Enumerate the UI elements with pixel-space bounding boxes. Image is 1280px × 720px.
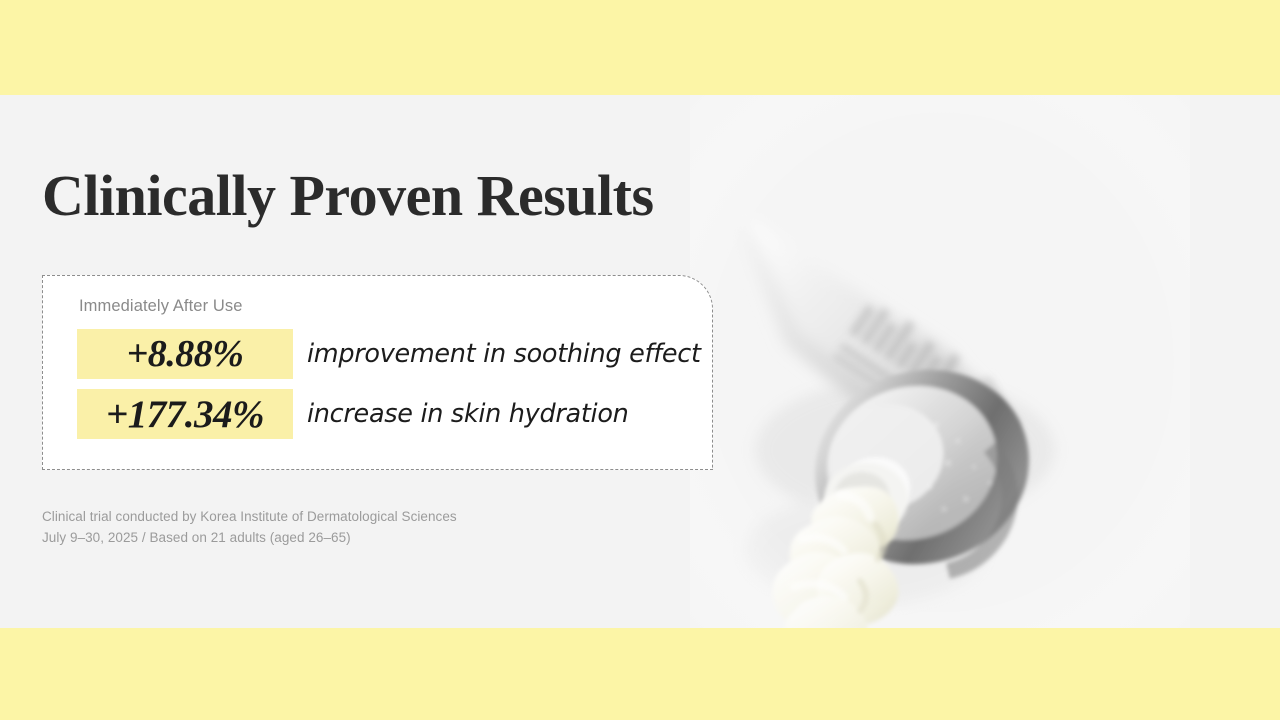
stat-value-badge: +8.88% <box>77 329 293 379</box>
slide-canvas: Clinically Proven Results Immediately Af… <box>0 0 1280 720</box>
stat-row: +177.34% increase in skin hydration <box>77 389 629 439</box>
footnote: Clinical trial conducted by Korea Instit… <box>42 507 457 549</box>
footnote-line-2: July 9–30, 2025 / Based on 21 adults (ag… <box>42 528 457 549</box>
stat-label: improvement in soothing effect <box>307 339 701 369</box>
content-column: Clinically Proven Results Immediately Af… <box>0 95 740 628</box>
top-accent-band <box>0 0 1280 95</box>
results-card-subtitle: Immediately After Use <box>79 297 243 316</box>
bottom-accent-band <box>0 628 1280 720</box>
footnote-line-1: Clinical trial conducted by Korea Instit… <box>42 507 457 528</box>
product-photo <box>690 95 1190 630</box>
stat-row: +8.88% improvement in soothing effect <box>77 329 701 379</box>
results-card: Immediately After Use +8.88% improvement… <box>42 275 713 470</box>
stat-value-badge: +177.34% <box>77 389 293 439</box>
stat-label: increase in skin hydration <box>307 399 629 429</box>
page-title: Clinically Proven Results <box>42 167 654 225</box>
